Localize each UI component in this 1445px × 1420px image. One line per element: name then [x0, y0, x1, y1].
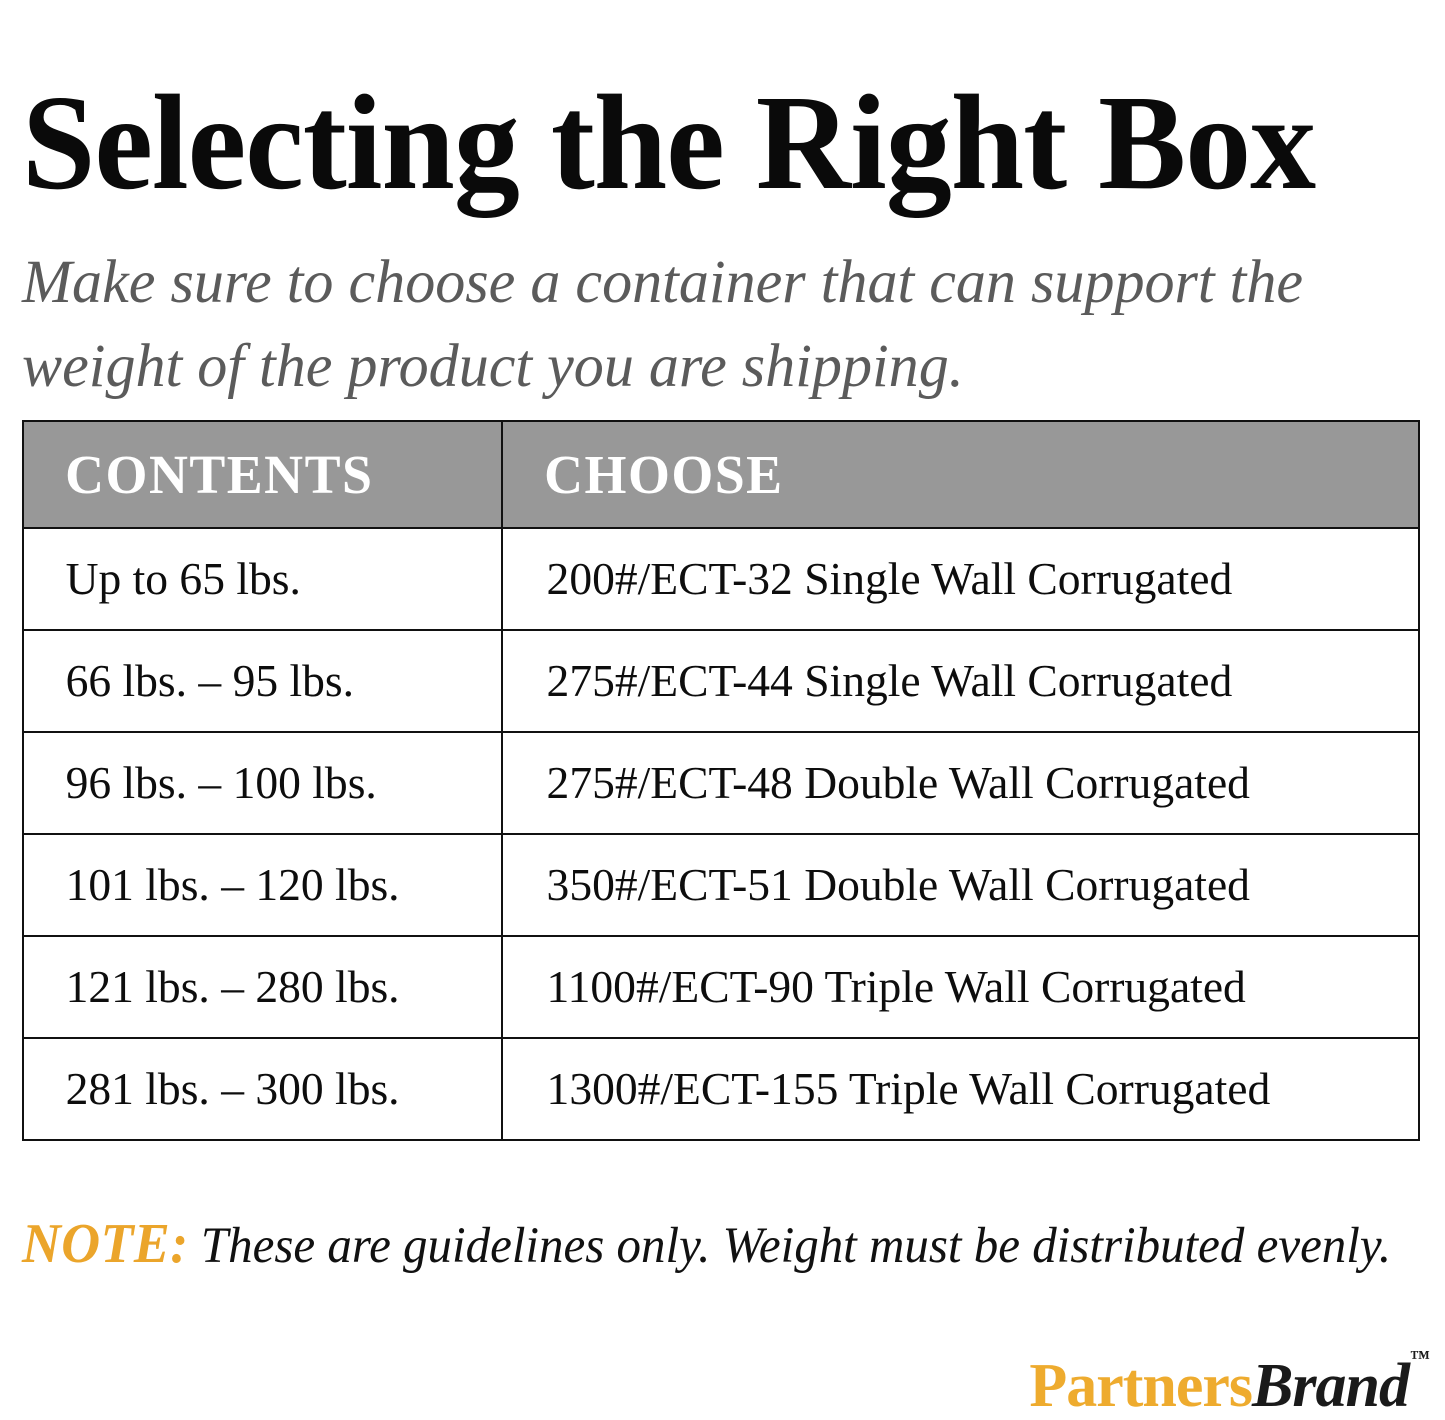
column-header-contents: CONTENTS [23, 421, 502, 528]
note-label: NOTE: [22, 1213, 189, 1275]
cell-contents: 66 lbs. – 95 lbs. [23, 630, 502, 732]
trademark-symbol: ™ [1410, 1347, 1430, 1369]
cell-choose-text: 200#/ECT-32 Single Wall Corrugated [503, 556, 1409, 602]
cell-contents: 101 lbs. – 120 lbs. [23, 834, 502, 936]
cell-choose-text: 275#/ECT-48 Double Wall Corrugated [503, 760, 1409, 806]
box-selection-table: CONTENTS CHOOSE Up to 65 lbs. 200#/ECT-3… [22, 420, 1420, 1141]
cell-contents: Up to 65 lbs. [23, 528, 502, 630]
cell-choose: 1300#/ECT-155 Triple Wall Corrugated [502, 1038, 1419, 1140]
cell-contents-text: 101 lbs. – 120 lbs. [24, 862, 496, 908]
table-header-row: CONTENTS CHOOSE [23, 421, 1419, 528]
cell-choose-text: 275#/ECT-44 Single Wall Corrugated [503, 658, 1409, 704]
logo-primary-text: Partners [1029, 1352, 1252, 1420]
page-subtitle: Make sure to choose a container that can… [22, 241, 1411, 409]
cell-contents-text: 66 lbs. – 95 lbs. [24, 658, 496, 704]
box-selection-table-wrapper: CONTENTS CHOOSE Up to 65 lbs. 200#/ECT-3… [22, 420, 1418, 1141]
table-row: Up to 65 lbs. 200#/ECT-32 Single Wall Co… [23, 528, 1419, 630]
table-row: 121 lbs. – 280 lbs. 1100#/ECT-90 Triple … [23, 936, 1419, 1038]
cell-choose-text: 350#/ECT-51 Double Wall Corrugated [503, 862, 1409, 908]
column-header-choose-label: CHOOSE [503, 447, 1400, 502]
column-header-choose: CHOOSE [502, 421, 1419, 528]
cell-contents-text: Up to 65 lbs. [24, 556, 496, 602]
cell-contents-text: 121 lbs. – 280 lbs. [24, 964, 496, 1010]
cell-choose: 1100#/ECT-90 Triple Wall Corrugated [502, 936, 1419, 1038]
cell-contents: 281 lbs. – 300 lbs. [23, 1038, 502, 1140]
cell-choose: 350#/ECT-51 Double Wall Corrugated [502, 834, 1419, 936]
table-row: 66 lbs. – 95 lbs. 275#/ECT-44 Single Wal… [23, 630, 1419, 732]
table-header: CONTENTS CHOOSE [23, 421, 1419, 528]
cell-contents: 121 lbs. – 280 lbs. [23, 936, 502, 1038]
column-header-contents-label: CONTENTS [24, 447, 491, 502]
cell-choose-text: 1300#/ECT-155 Triple Wall Corrugated [503, 1066, 1409, 1112]
cell-choose: 275#/ECT-44 Single Wall Corrugated [502, 630, 1419, 732]
table-row: 96 lbs. – 100 lbs. 275#/ECT-48 Double Wa… [23, 732, 1419, 834]
cell-choose: 275#/ECT-48 Double Wall Corrugated [502, 732, 1419, 834]
cell-choose-text: 1100#/ECT-90 Triple Wall Corrugated [503, 964, 1409, 1010]
partners-brand-logo: PartnersBrand™ [1029, 1355, 1429, 1417]
logo-secondary-text: Brand [1252, 1352, 1409, 1420]
page-title: Selecting the Right Box [22, 75, 1390, 211]
table-row: 101 lbs. – 120 lbs. 350#/ECT-51 Double W… [23, 834, 1419, 936]
cell-choose: 200#/ECT-32 Single Wall Corrugated [502, 528, 1419, 630]
table-row: 281 lbs. – 300 lbs. 1300#/ECT-155 Triple… [23, 1038, 1419, 1140]
table-body: Up to 65 lbs. 200#/ECT-32 Single Wall Co… [23, 528, 1419, 1140]
cell-contents: 96 lbs. – 100 lbs. [23, 732, 502, 834]
note-text: These are guidelines only. Weight must b… [189, 1218, 1392, 1274]
cell-contents-text: 281 lbs. – 300 lbs. [24, 1066, 496, 1112]
infographic-page: Selecting the Right Box Make sure to cho… [0, 0, 1445, 1419]
note-line: NOTE: These are guidelines only. Weight … [22, 1216, 1376, 1272]
cell-contents-text: 96 lbs. – 100 lbs. [24, 760, 496, 806]
